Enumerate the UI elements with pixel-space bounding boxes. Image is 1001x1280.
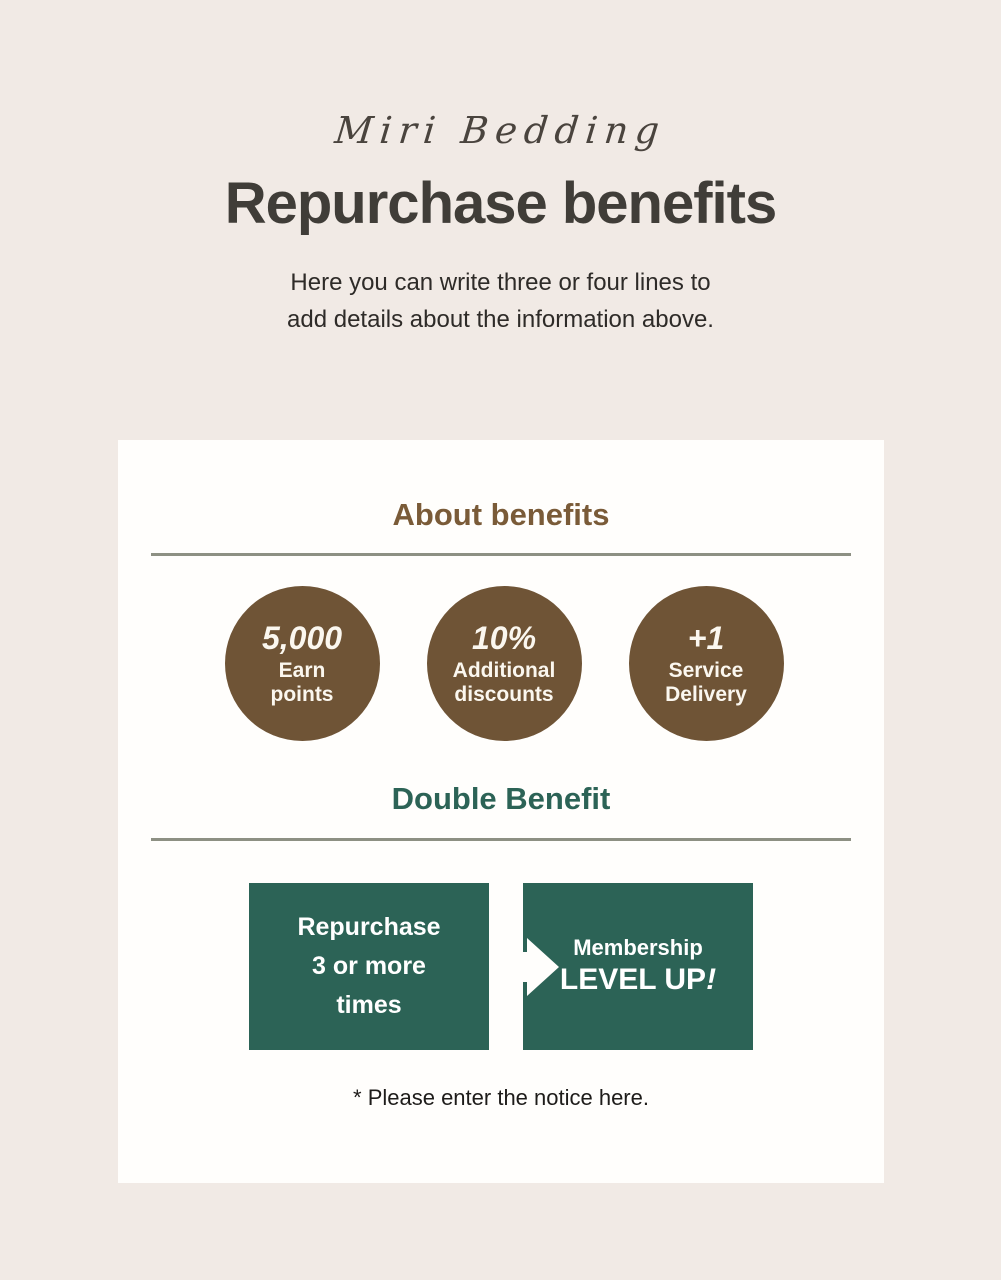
flow-box-repurchase-line-3: times [297, 986, 440, 1025]
page-title: Repurchase benefits [0, 172, 1001, 236]
benefit-circle-value: 5,000 [262, 620, 342, 656]
benefit-circle-value: 10% [472, 620, 536, 656]
flow-box-level-up-exclamation: ! [706, 963, 716, 996]
double-benefit-divider [151, 838, 851, 841]
arrow-right-icon [481, 924, 567, 1010]
benefit-circle-label: Service Delivery [665, 659, 747, 707]
flow-box-repurchase-line-2: 3 or more [297, 947, 440, 986]
benefit-circle-label-line-2: discounts [453, 683, 556, 707]
benefits-card: About benefits 5,000 Earn points 10% Add… [118, 440, 884, 1183]
flow-box-level-up-line-2: LEVEL UP! [560, 961, 716, 999]
flow-box-repurchase-line-1: Repurchase [297, 908, 440, 947]
benefit-circle-additional-discounts: 10% Additional discounts [427, 586, 582, 741]
page-subtitle-line-2: add details about the information above. [0, 301, 1001, 338]
double-benefit-flow: Repurchase 3 or more times Membership LE… [118, 883, 884, 1050]
double-benefit-title: Double Benefit [118, 783, 884, 814]
page-subtitle-line-1: Here you can write three or four lines t… [0, 264, 1001, 301]
card-footnote: * Please enter the notice here. [118, 1085, 884, 1111]
flow-box-repurchase-text: Repurchase 3 or more times [297, 908, 440, 1024]
about-benefits-title: About benefits [118, 499, 884, 530]
benefit-circle-label-line-1: Service [665, 659, 747, 683]
page-subtitle: Here you can write three or four lines t… [0, 264, 1001, 338]
benefit-circle-value: +1 [688, 620, 724, 656]
benefit-circles-group: 5,000 Earn points 10% Additional discoun… [118, 586, 884, 741]
benefit-circle-label-line-2: Delivery [665, 683, 747, 707]
benefit-circle-label: Additional discounts [453, 659, 556, 707]
page-header: Miri Bedding Repurchase benefits Here yo… [0, 0, 1001, 338]
flow-box-level-up-text: LEVEL UP [560, 963, 706, 996]
benefit-circle-label-line-1: Additional [453, 659, 556, 683]
benefit-circle-label: Earn points [271, 659, 334, 707]
flow-box-repurchase: Repurchase 3 or more times [249, 883, 489, 1050]
benefit-circle-earn-points: 5,000 Earn points [225, 586, 380, 741]
benefit-circle-label-line-1: Earn [271, 659, 334, 683]
benefit-circle-label-line-2: points [271, 683, 334, 707]
benefit-circle-service-delivery: +1 Service Delivery [629, 586, 784, 741]
about-benefits-divider [151, 553, 851, 556]
brand-script-logo: Miri Bedding [0, 112, 1001, 149]
flow-box-level-up-line-1: Membership [573, 935, 703, 961]
